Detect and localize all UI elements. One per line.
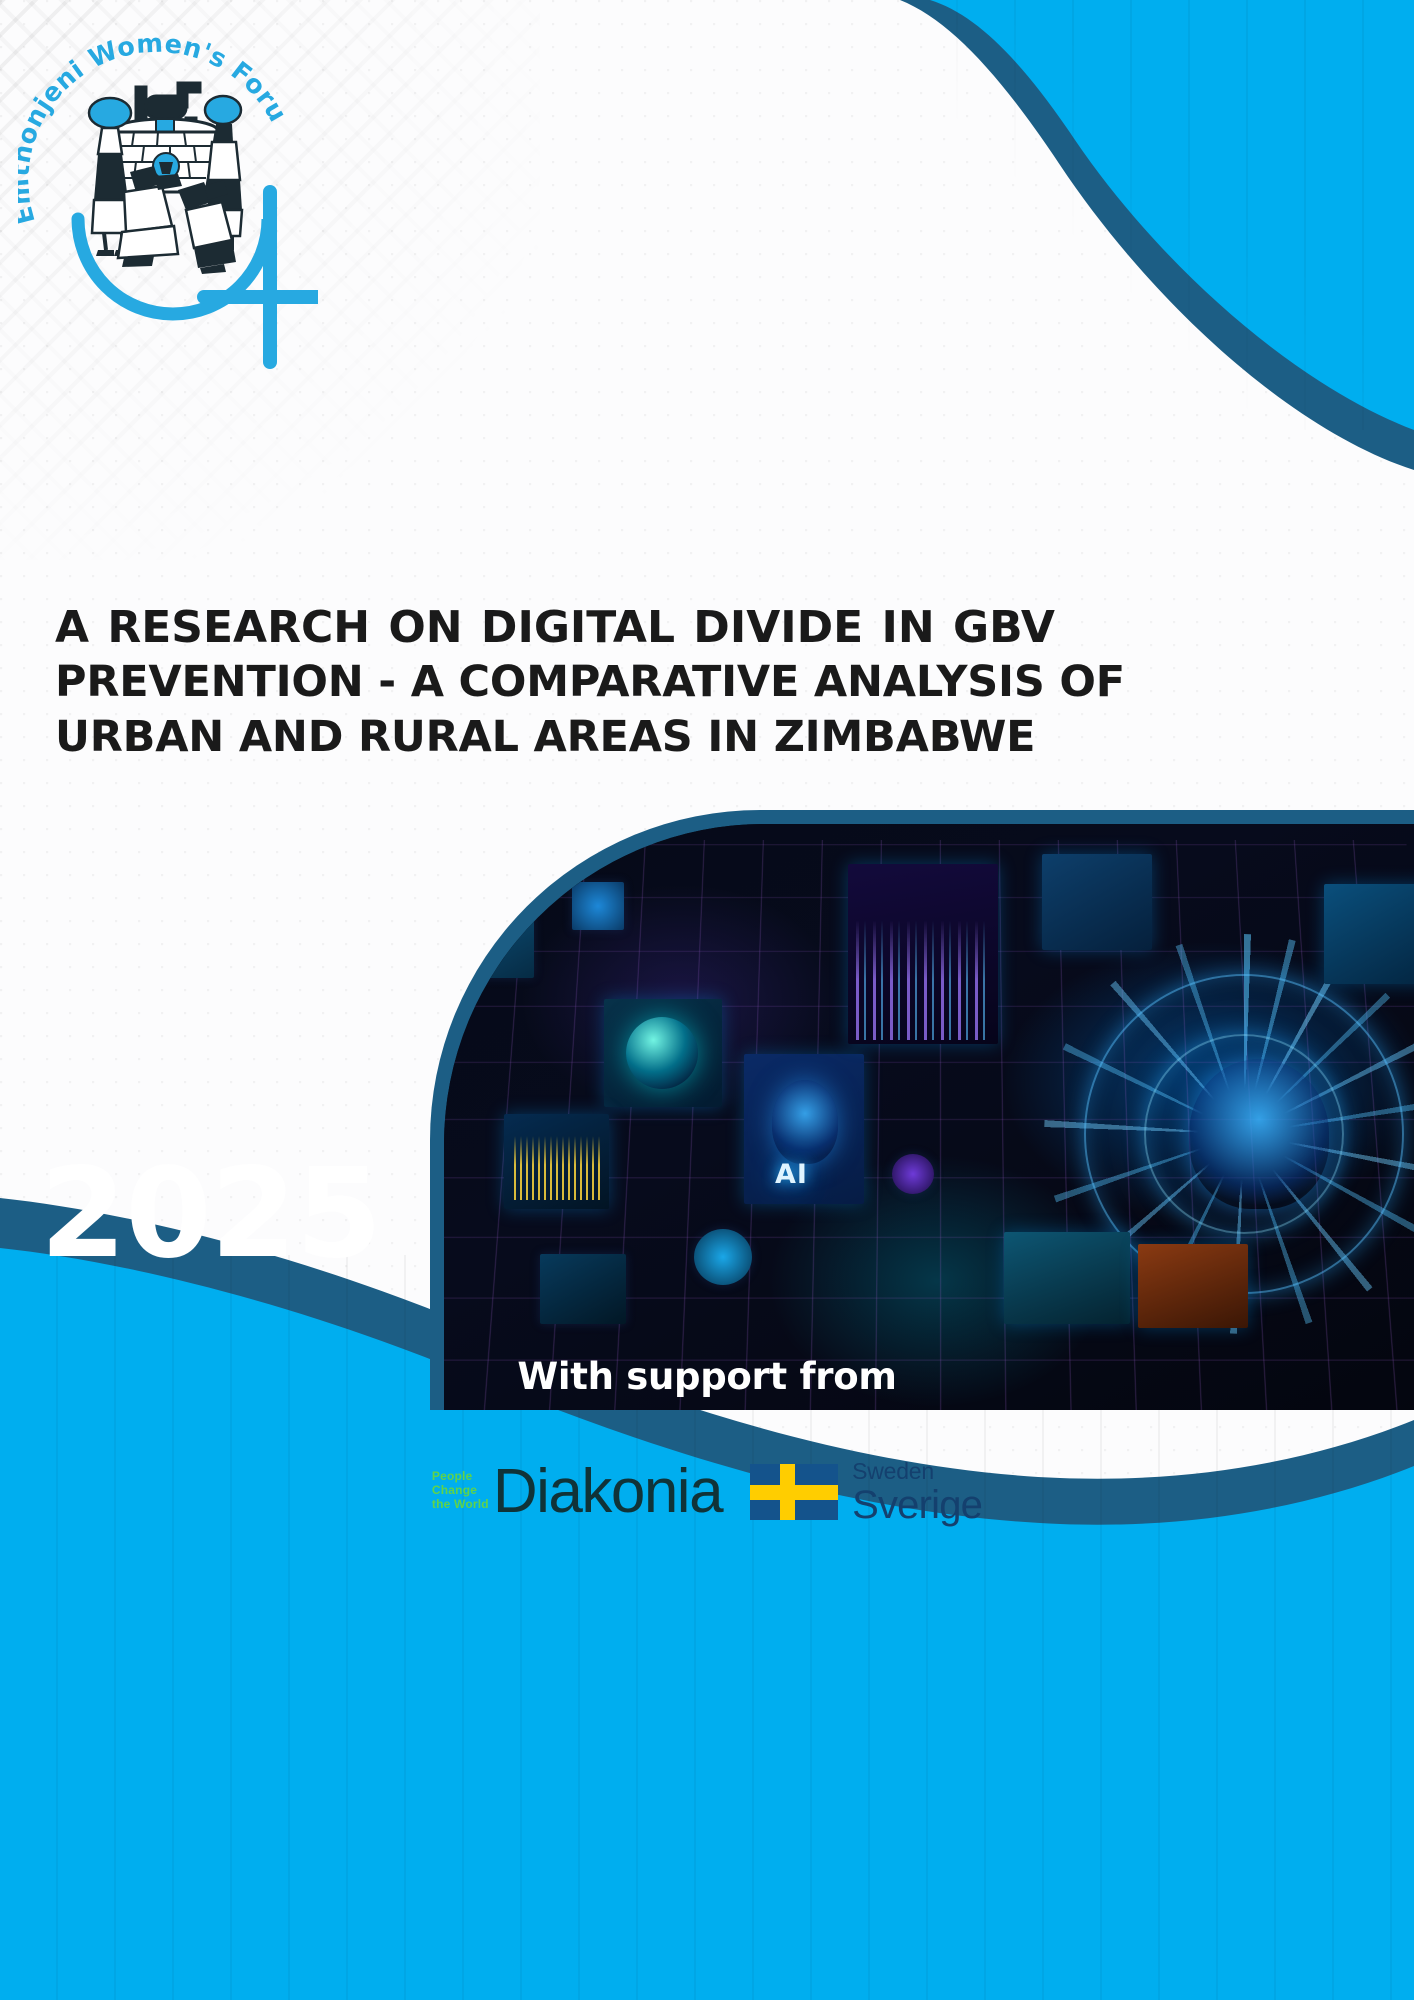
- hero-globe-icon: [626, 1017, 698, 1089]
- publication-year: 2025: [40, 1152, 381, 1276]
- hero-brain-node-icon: [1189, 1059, 1329, 1209]
- support-section: With support from: [0, 1355, 1414, 1398]
- title-word: RESEARCH: [107, 600, 370, 655]
- title-line-1: A RESEARCH ON DIGITAL DIVIDE IN GBV: [55, 600, 1055, 655]
- logo-svg: Emthonjeni Women's Forum: [18, 14, 318, 369]
- support-label: With support from: [0, 1355, 1414, 1398]
- logo-illustration: [89, 83, 242, 274]
- hero-ai-badge: AI: [775, 1159, 808, 1190]
- hero-tile-city: [848, 864, 998, 1044]
- partner-logos: People Change the World Diakonia Sweden …: [0, 1437, 1414, 1547]
- title-line-2: PREVENTION - A COMPARATIVE ANALYSIS OF: [55, 655, 1055, 710]
- hero-tile-right-upper: [1324, 884, 1414, 984]
- organization-logo: Emthonjeni Women's Forum: [18, 14, 318, 369]
- page-title: A RESEARCH ON DIGITAL DIVIDE IN GBV PREV…: [55, 600, 1055, 765]
- flag-vertical-bar: [780, 1464, 795, 1520]
- hero-glow-dot-2: [892, 1154, 934, 1194]
- hero-image-container: AI: [430, 810, 1414, 1410]
- hero-bar-chart-icon: [514, 1136, 600, 1200]
- title-word: DIGITAL: [481, 600, 675, 655]
- hero-glow-dot-1: [694, 1229, 752, 1285]
- title-line-3: URBAN AND RURAL AREAS IN ZIMBABWE: [55, 710, 1055, 765]
- title-word: A: [55, 600, 89, 655]
- hero-tile-globe: [604, 999, 722, 1107]
- diakonia-tagline-line-1: People: [432, 1469, 489, 1483]
- title-word: IN: [882, 600, 935, 655]
- hero-tile-node: [572, 882, 624, 930]
- hero-tile-chart-left: [504, 1114, 609, 1209]
- sweden-label-sv: Sverige: [852, 1485, 982, 1525]
- hero-tile-warm: [1138, 1244, 1248, 1328]
- sweden-label-en: Sweden: [852, 1460, 982, 1483]
- title-word: ON: [388, 600, 462, 655]
- title-word: DIVIDE: [693, 600, 863, 655]
- logo-figure-front-right: [178, 180, 236, 274]
- title-word: GBV: [953, 600, 1055, 655]
- diakonia-wordmark: Diakonia: [493, 1461, 722, 1523]
- hero-image-technology-collage: AI: [444, 824, 1414, 1410]
- hero-tile-glow-small: [464, 914, 534, 978]
- hero-tile-bottom-left: [540, 1254, 626, 1324]
- hero-tile-right-top: [1042, 854, 1152, 950]
- sweden-flag-icon: [750, 1464, 838, 1520]
- partner-logo-diakonia: People Change the World Diakonia: [432, 1461, 722, 1523]
- diakonia-tagline-line-2: Change: [432, 1483, 489, 1497]
- diakonia-tagline: People Change the World: [432, 1469, 489, 1515]
- sweden-wordmark: Sweden Sverige: [852, 1460, 982, 1525]
- hero-ai-head-icon: [772, 1080, 838, 1164]
- partner-logo-sweden: Sweden Sverige: [750, 1460, 982, 1525]
- cover-page: AI: [0, 0, 1414, 2000]
- hero-tile-profiles: [1004, 1232, 1130, 1324]
- diakonia-tagline-line-3: the World: [432, 1497, 489, 1511]
- hero-city-skyline-icon: [856, 920, 990, 1040]
